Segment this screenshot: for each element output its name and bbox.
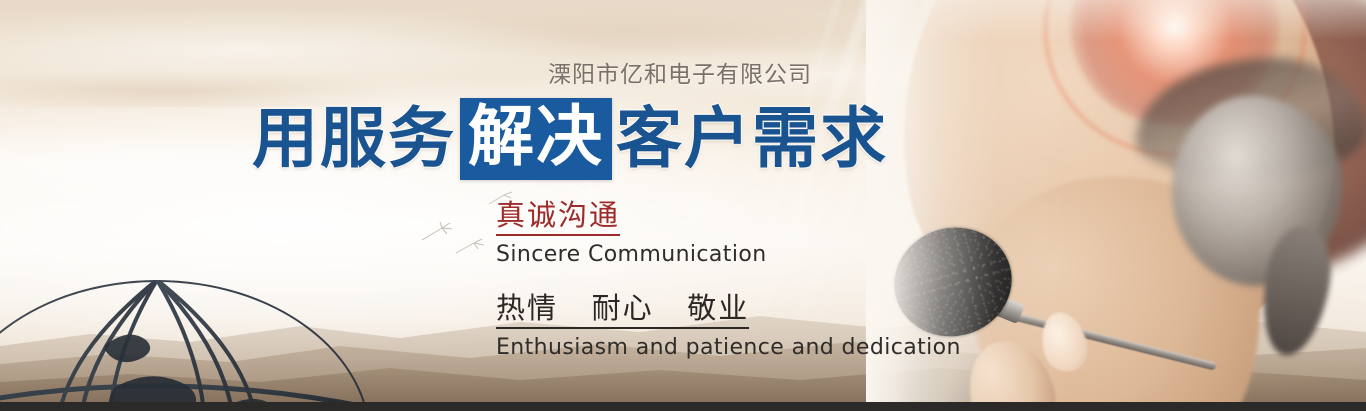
wireframe-globe-icon	[0, 252, 372, 411]
slogan-item-1: 真诚沟通 Sincere Communication	[496, 198, 961, 269]
dandelion-wisp-icon	[416, 220, 456, 246]
company-name: 溧阳市亿和电子有限公司	[0, 55, 1363, 89]
slogan-cn-2: 热情 耐心 敬业	[496, 291, 749, 329]
slogan-en-1: Sincere Communication	[496, 242, 961, 268]
headline-after: 客户需求	[616, 106, 888, 172]
dandelion-wisp-icon	[452, 236, 486, 258]
slogan-block: 真诚沟通 Sincere Communication 热情 耐心 敬业 Enth…	[496, 198, 961, 361]
headline: 用服务 解决 客户需求	[252, 98, 888, 180]
headline-highlight: 解决	[460, 98, 612, 180]
promo-banner: 溧阳市亿和电子有限公司 用服务 解决 客户需求 真诚沟通 Sincere Com…	[0, 0, 1366, 411]
headline-before: 用服务	[252, 106, 456, 172]
slogan-en-2: Enthusiasm and patience and dedication	[496, 335, 961, 361]
photo-top-fade	[866, 0, 1366, 40]
slogan-item-2: 热情 耐心 敬业 Enthusiasm and patience and ded…	[496, 291, 961, 362]
bottom-bar	[0, 402, 1366, 411]
slogan-cn-1: 真诚沟通	[496, 198, 620, 236]
